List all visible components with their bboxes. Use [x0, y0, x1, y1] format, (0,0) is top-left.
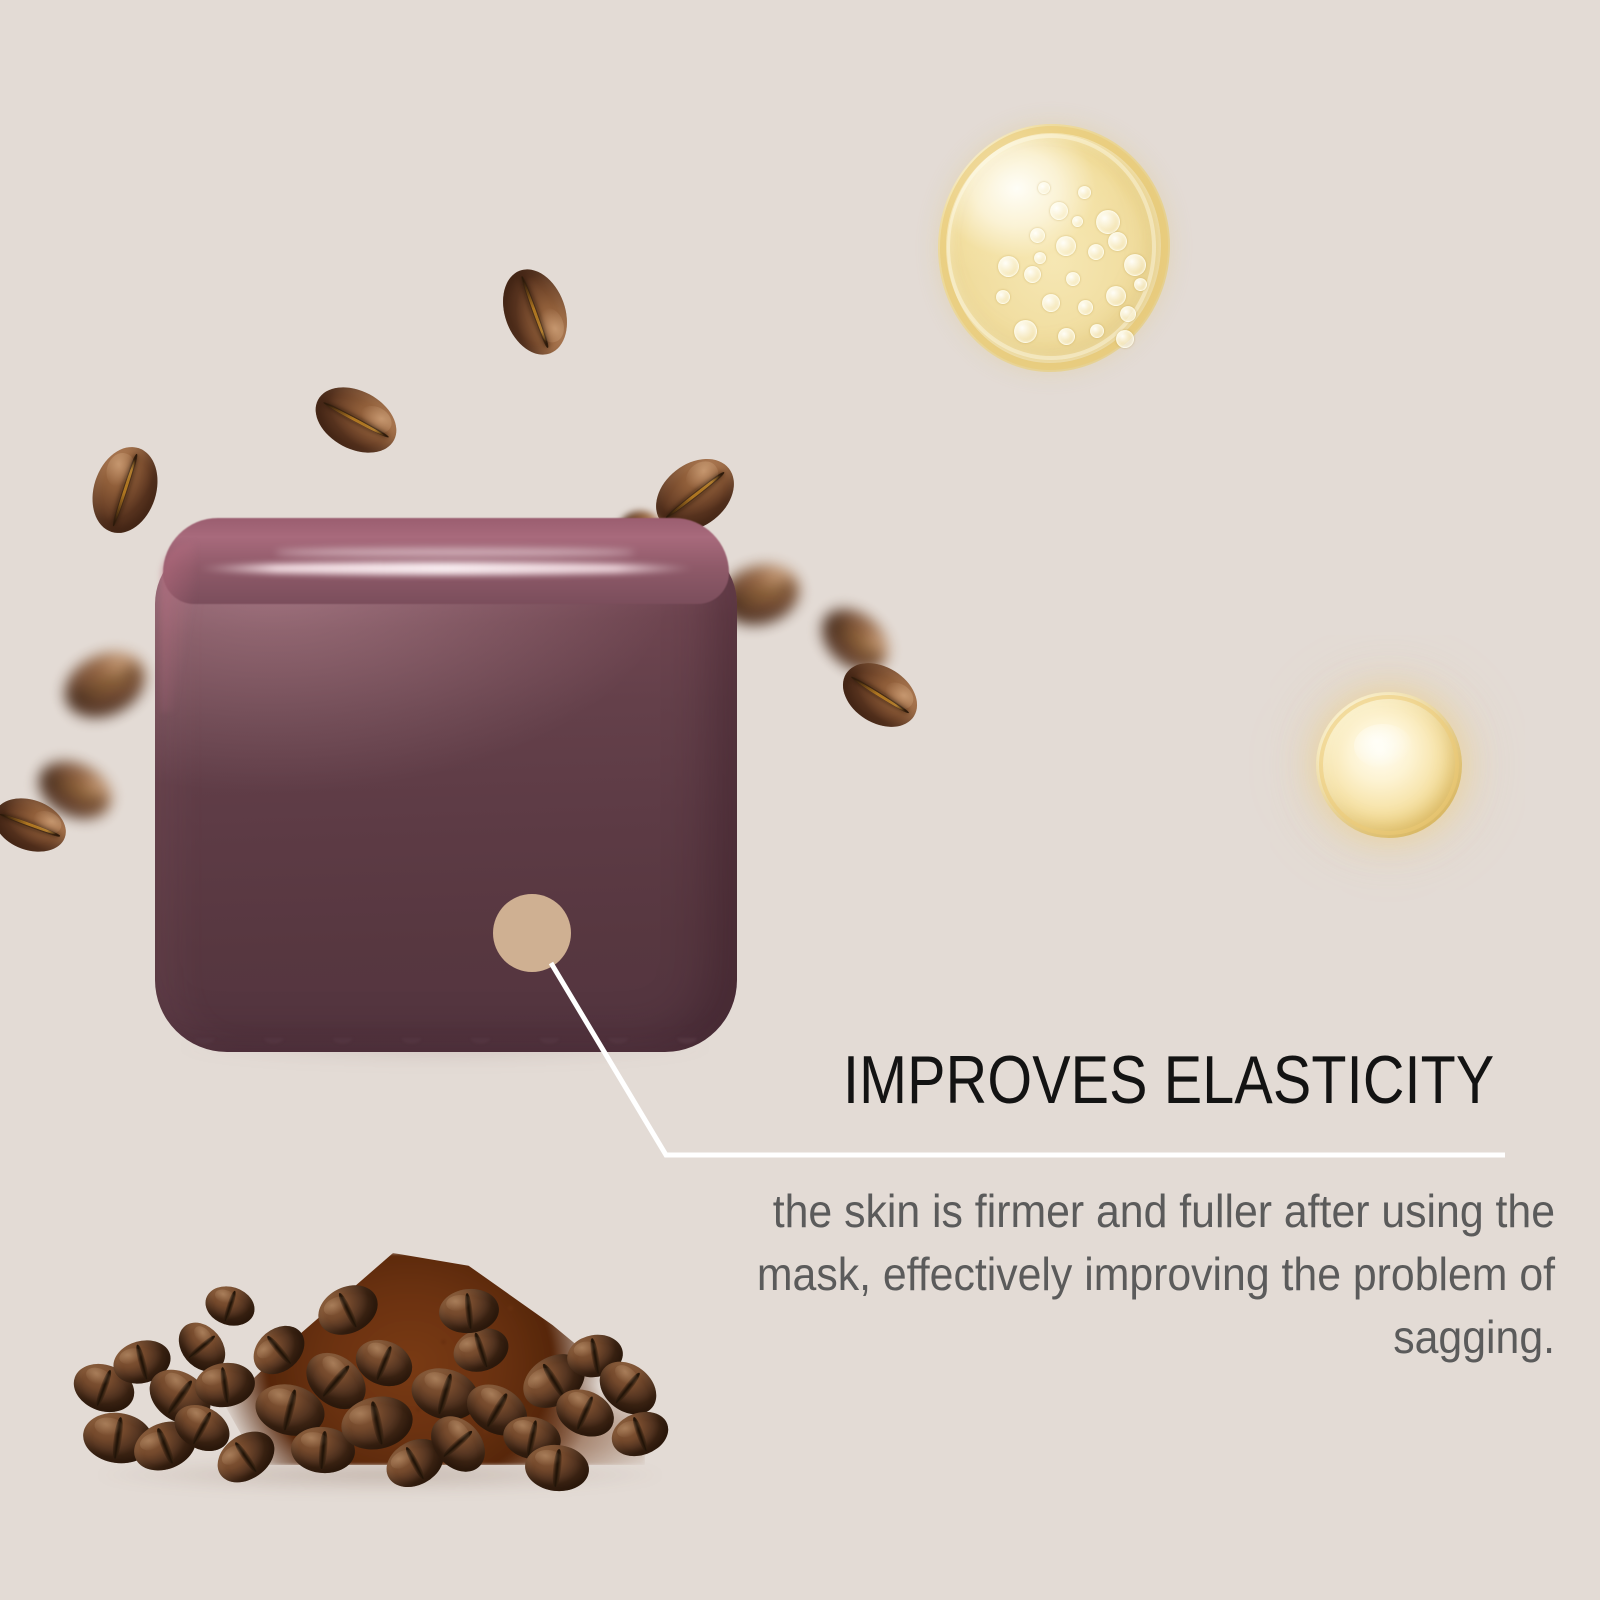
soap-bottom-edge: [159, 1038, 733, 1054]
soap-gloss-secondary: [275, 548, 635, 557]
coffee-bean-icon: [304, 374, 407, 466]
coffee-bean-icon: [200, 1280, 259, 1332]
oil-bubble: [1024, 266, 1041, 283]
soap-body: [155, 540, 737, 1052]
oil-bubble: [1056, 236, 1076, 256]
oil-bubble: [1088, 244, 1104, 260]
feature-title: IMPROVES ELASTICITY: [843, 1046, 1445, 1114]
coffee-bean-icon: [54, 640, 155, 730]
oil-bubble: [1134, 278, 1147, 291]
coffee-bean-icon: [492, 260, 578, 363]
oil-bubble: [1078, 300, 1093, 315]
oil-bubble: [1058, 328, 1075, 345]
oil-bubble: [1096, 210, 1120, 234]
product-feature-banner: IMPROVES ELASTICITY the skin is firmer a…: [0, 0, 1600, 1600]
oil-bubble: [1034, 252, 1046, 264]
coffee-soap-bar: [155, 518, 737, 1052]
oil-bubble: [1050, 202, 1068, 220]
oil-bubble: [996, 290, 1010, 304]
coffee-pile: [55, 1245, 695, 1513]
oil-bubble: [1120, 306, 1136, 322]
oil-bubble: [998, 256, 1019, 277]
oil-bubble: [1078, 186, 1091, 199]
oil-bubble: [1066, 272, 1080, 286]
oil-bubble: [1106, 286, 1126, 306]
oil-bubble: [1116, 330, 1134, 348]
feature-description: the skin is firmer and fuller after usin…: [685, 1180, 1555, 1369]
soap-top-surface: [163, 518, 729, 604]
oil-bubble: [1014, 320, 1037, 343]
oil-droplet-small-icon: [1316, 692, 1462, 838]
oil-droplet-large-icon: [938, 124, 1170, 372]
oil-bubble: [1042, 294, 1060, 312]
oil-bubble: [1124, 254, 1146, 276]
oil-sphere-highlight: [1354, 724, 1412, 768]
oil-bubble: [1090, 324, 1104, 338]
oil-bubble: [1030, 228, 1045, 243]
soap-gloss-highlight: [197, 562, 695, 575]
oil-bubble: [1108, 232, 1127, 251]
callout-dot: [493, 894, 571, 972]
oil-bubble: [1038, 182, 1050, 194]
oil-bubble: [1072, 216, 1083, 227]
soap-left-edge-light: [161, 542, 195, 712]
